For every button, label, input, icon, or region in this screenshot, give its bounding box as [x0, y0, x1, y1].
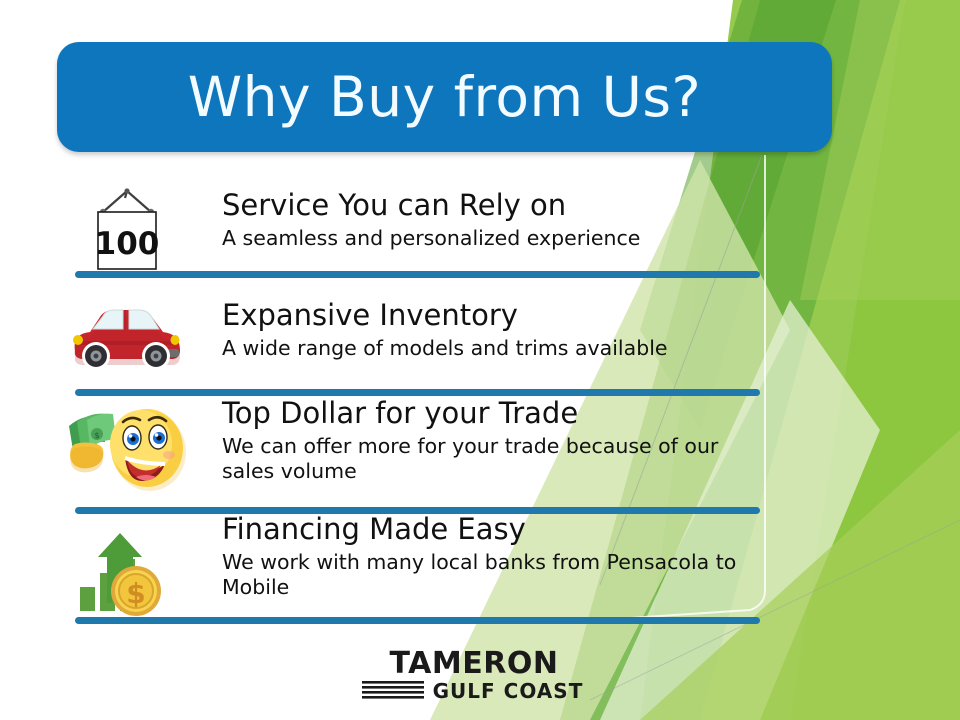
bullet-body: A wide range of models and trims availab…: [222, 336, 767, 361]
growth-chart-coin-icon: $: [57, 526, 197, 621]
bullet-heading: Service You can Rely on: [222, 190, 767, 221]
divider-4: [75, 617, 760, 624]
bullet-text-trade: Top Dollar for your Trade We can offer m…: [222, 398, 767, 484]
red-car-icon: [57, 292, 197, 380]
bullet-heading: Financing Made Easy: [222, 514, 767, 545]
page-title: Why Buy from Us?: [188, 70, 701, 125]
hanging-sign-100-icon: 100: [57, 186, 197, 278]
bullet-body: A seamless and personalized experience: [222, 226, 767, 251]
svg-text:$: $: [94, 431, 99, 440]
bullet-heading: Top Dollar for your Trade: [222, 398, 767, 429]
logo-line1-text: TAMERON: [390, 646, 559, 681]
logo-stripes: [362, 681, 424, 699]
bullet-body: We work with many local banks from Pensa…: [222, 550, 767, 600]
coin-dollar-sign: $: [126, 577, 145, 610]
bullet-body: We can offer more for your trade because…: [222, 434, 767, 484]
bullet-text-service: Service You can Rely on A seamless and p…: [222, 190, 767, 251]
divider-1: [75, 271, 760, 278]
divider-2: [75, 389, 760, 396]
bullet-text-financing: Financing Made Easy We work with many lo…: [222, 514, 767, 600]
tameron-gulf-coast-logo: TAMERON GULF COAST: [352, 645, 592, 707]
bullet-heading: Expansive Inventory: [222, 300, 767, 331]
logo-line2-text: GULF COAST: [433, 679, 584, 703]
sign-number: 100: [95, 226, 160, 262]
bullet-text-inventory: Expansive Inventory A wide range of mode…: [222, 300, 767, 361]
title-banner: Why Buy from Us?: [57, 42, 832, 152]
slide-canvas: Why Buy from Us? 100 Service You can Rel…: [0, 0, 960, 720]
smiley-with-money-icon: $: [57, 398, 197, 498]
